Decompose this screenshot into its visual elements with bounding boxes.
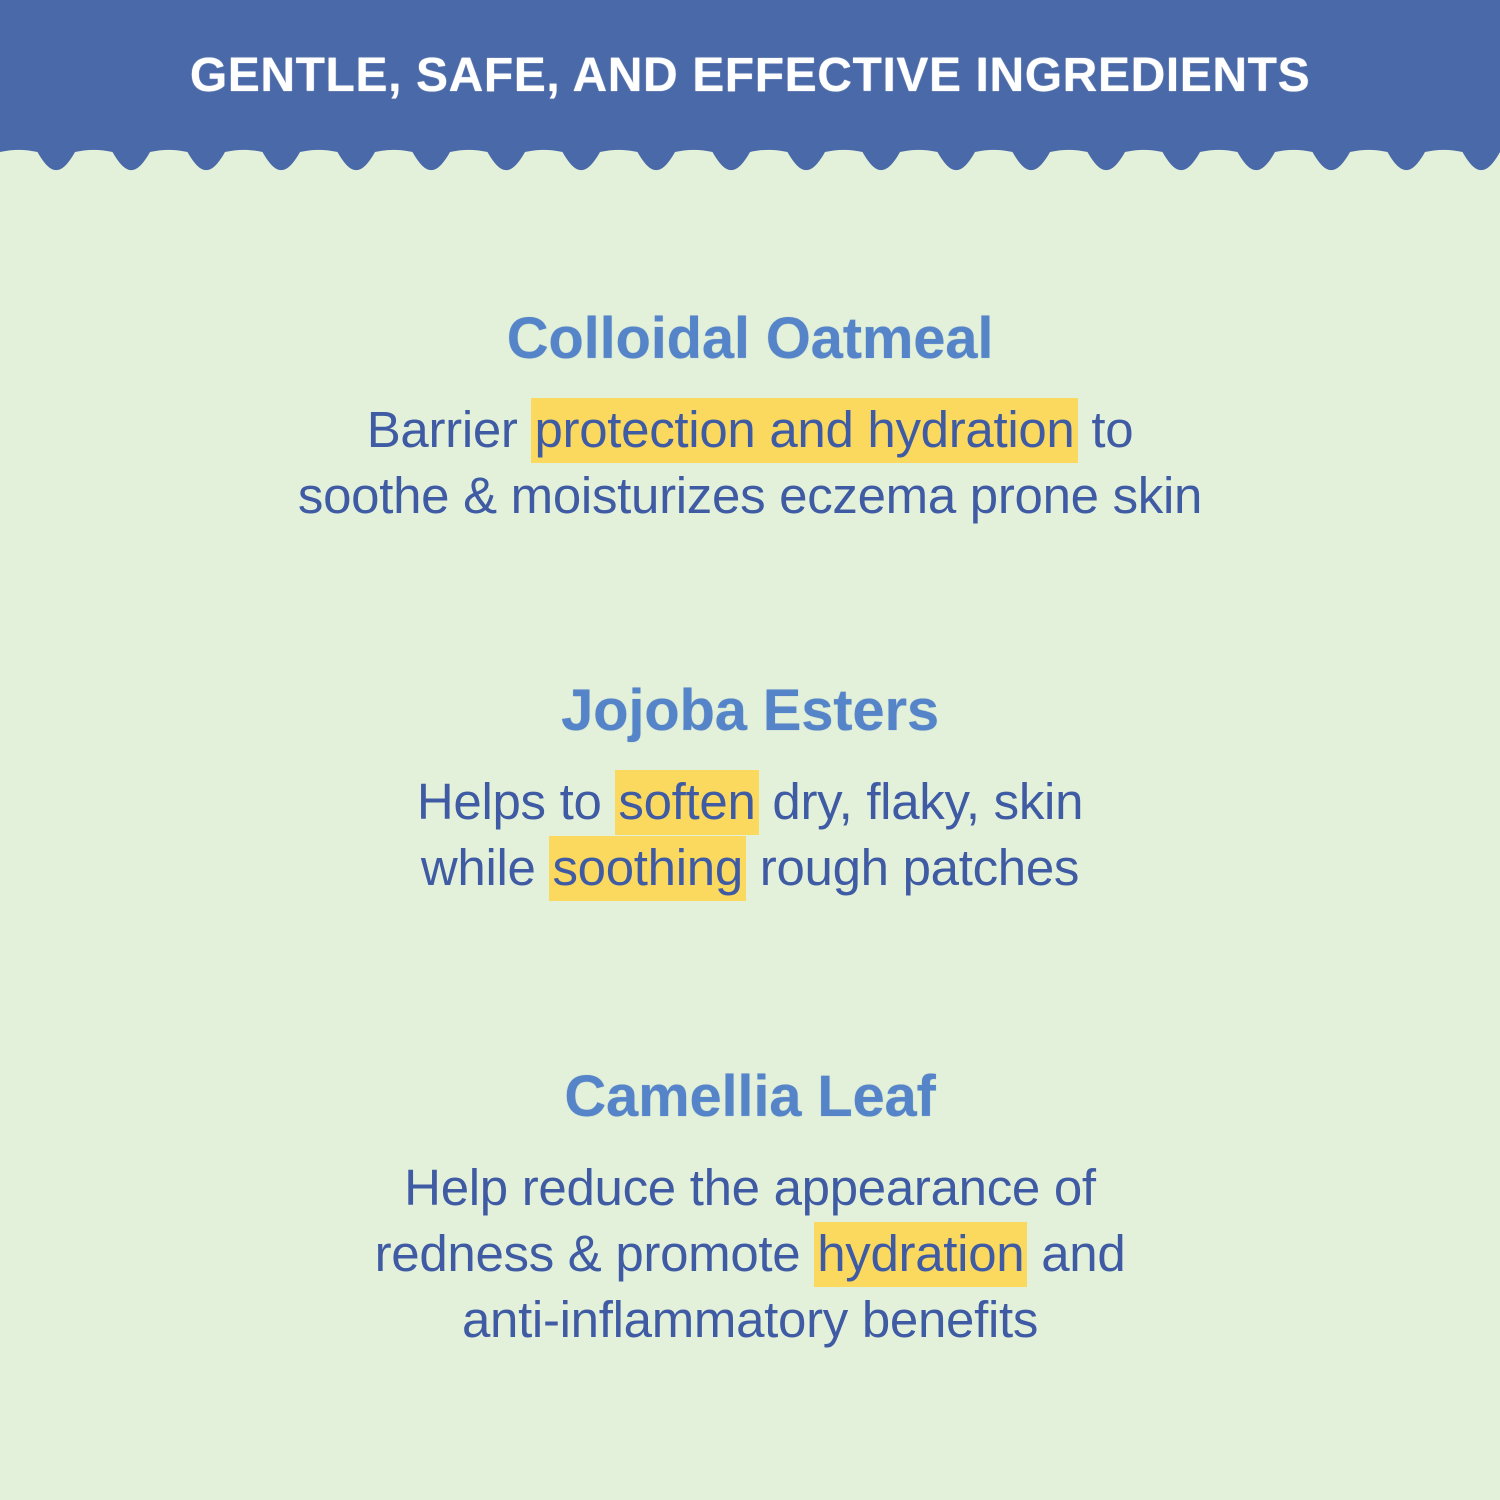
description-text: redness & promote	[375, 1225, 815, 1282]
description-text: Barrier	[367, 401, 532, 458]
ingredients-list: Colloidal Oatmeal Barrier protection and…	[0, 176, 1500, 1500]
description-text: Helps to	[417, 773, 616, 830]
description-line: Barrier protection and hydration to	[0, 397, 1500, 463]
ingredient-description: Helps to soften dry, flaky, skinwhile so…	[0, 769, 1500, 902]
ingredient-name: Camellia Leaf	[0, 1066, 1500, 1129]
ingredient-name: Jojoba Esters	[0, 680, 1500, 743]
description-text: Help reduce the appearance of	[404, 1159, 1096, 1216]
ingredient-name: Colloidal Oatmeal	[0, 308, 1500, 371]
description-line: anti-inflammatory benefits	[0, 1287, 1500, 1353]
page-header-banner: GENTLE, SAFE, AND EFFECTIVE INGREDIENTS	[0, 0, 1500, 176]
description-text: while	[421, 839, 550, 896]
description-text: anti-inflammatory benefits	[462, 1291, 1038, 1348]
description-line: while soothing rough patches	[0, 835, 1500, 901]
highlighted-phrase: protection and hydration	[531, 398, 1077, 463]
ingredient-description: Help reduce the appearance ofredness & p…	[0, 1155, 1500, 1354]
description-text: and	[1027, 1225, 1125, 1282]
description-text: soothe & moisturizes eczema prone skin	[298, 467, 1202, 524]
description-line: redness & promote hydration and	[0, 1221, 1500, 1287]
description-text: to	[1078, 401, 1134, 458]
ingredient-section-colloidal-oatmeal: Colloidal Oatmeal Barrier protection and…	[0, 308, 1500, 529]
ingredient-section-camellia-leaf: Camellia Leaf Help reduce the appearance…	[0, 1066, 1500, 1354]
description-line: soothe & moisturizes eczema prone skin	[0, 463, 1500, 529]
description-line: Helps to soften dry, flaky, skin	[0, 769, 1500, 835]
highlighted-phrase: soothing	[549, 836, 745, 901]
description-line: Help reduce the appearance of	[0, 1155, 1500, 1221]
description-text: rough patches	[746, 839, 1079, 896]
highlighted-phrase: soften	[615, 770, 758, 835]
description-text: dry, flaky, skin	[759, 773, 1084, 830]
ingredient-description: Barrier protection and hydration tosooth…	[0, 397, 1500, 530]
page-title: GENTLE, SAFE, AND EFFECTIVE INGREDIENTS	[0, 0, 1500, 152]
highlighted-phrase: hydration	[814, 1222, 1027, 1287]
ingredient-section-jojoba-esters: Jojoba Esters Helps to soften dry, flaky…	[0, 680, 1500, 901]
